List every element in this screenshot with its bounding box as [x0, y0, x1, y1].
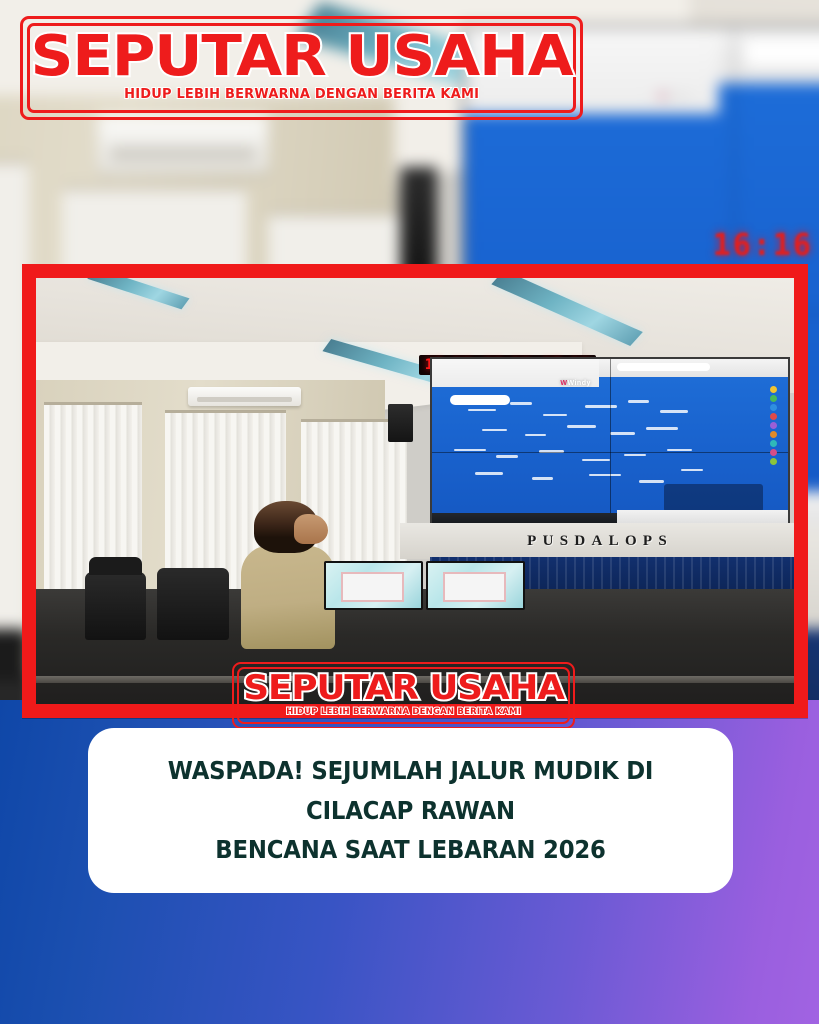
control-room-scene: 15:16 16:16 17:16 WWindy [36, 278, 794, 704]
map-layer-toolbar [763, 382, 783, 505]
wall-speaker [388, 404, 412, 442]
browser-url-bar [745, 40, 819, 66]
watermark-outer-border: SEPUTAR USAHA HIDUP LEBIH BERWARNA DENGA… [20, 16, 583, 120]
watermark-outer-border: SEPUTAR USAHA HIDUP LEBIH BERWARNA DENGA… [232, 662, 575, 729]
browser-url-bar [617, 363, 710, 371]
map-search-box [450, 395, 511, 404]
wall-sign-letter: S [658, 533, 666, 550]
wall-sign-letter: L [609, 533, 619, 550]
desk-monitor-right [426, 561, 525, 610]
monitor-screen [326, 563, 421, 608]
map-legend-panel [664, 484, 764, 512]
air-conditioner-unit [188, 387, 302, 406]
watermark-inner-border: SEPUTAR USAHA HIDUP LEBIH BERWARNA DENGA… [27, 23, 576, 113]
wall-sign-letter: O [625, 533, 637, 550]
panel-seam-vertical [610, 359, 611, 525]
desk-monitor-left [324, 561, 423, 610]
wall-sign-letter: A [591, 533, 602, 550]
framed-photo: 15:16 16:16 17:16 WWindy [22, 264, 808, 718]
panel-seam-horizontal [432, 452, 788, 453]
caption-card: WASPADA! SEJUMLAH JALUR MUDIK DI CILACAP… [88, 728, 733, 893]
caption-line-2: BENCANA SAAT LEBARAN 2026 [142, 830, 679, 870]
wall-sign-letter: P [527, 533, 536, 550]
air-conditioner-unit [97, 115, 268, 173]
office-chair [85, 572, 146, 640]
watermark-subtitle: HIDUP LEBIH BERWARNA DENGAN BERITA KAMI [124, 88, 479, 102]
watermark-inner-border: SEPUTAR USAHA HIDUP LEBIH BERWARNA DENGA… [237, 667, 570, 724]
poster-canvas: WWindy [0, 0, 819, 1024]
background-digital-clock: 16:16 [713, 228, 813, 263]
watermark-top: SEPUTAR USAHA HIDUP LEBIH BERWARNA DENGA… [20, 16, 583, 120]
office-chair [157, 568, 229, 640]
windy-logo: WWindy [659, 93, 690, 100]
watermark-subtitle: HIDUP LEBIH BERWARNA DENGAN BERITA KAMI [286, 708, 521, 717]
caption-headline: WASPADA! SEJUMLAH JALUR MUDIK DI CILACAP… [142, 751, 679, 870]
video-wall: WWindy [430, 357, 790, 527]
windy-logo-text: Windy [567, 380, 590, 387]
watermark-title: SEPUTAR USAHA [31, 30, 573, 84]
wall-sign-letter: P [643, 533, 652, 550]
person-face [294, 514, 328, 545]
watermark-title: SEPUTAR USAHA [243, 672, 564, 705]
watermark-overlay: SEPUTAR USAHA HIDUP LEBIH BERWARNA DENGA… [232, 662, 575, 729]
wall-sign-letter: S [560, 533, 568, 550]
wall-sign-pusdalops: P U S D A L O P S [400, 523, 794, 559]
person-operator [241, 546, 336, 648]
caption-line-1: WASPADA! SEJUMLAH JALUR MUDIK DI CILACAP… [142, 751, 679, 830]
windy-logo: WWindy [560, 380, 591, 387]
monitor-screen [428, 563, 523, 608]
wall-sign-letter: D [574, 533, 585, 550]
wall-sign-letter: U [543, 533, 554, 550]
